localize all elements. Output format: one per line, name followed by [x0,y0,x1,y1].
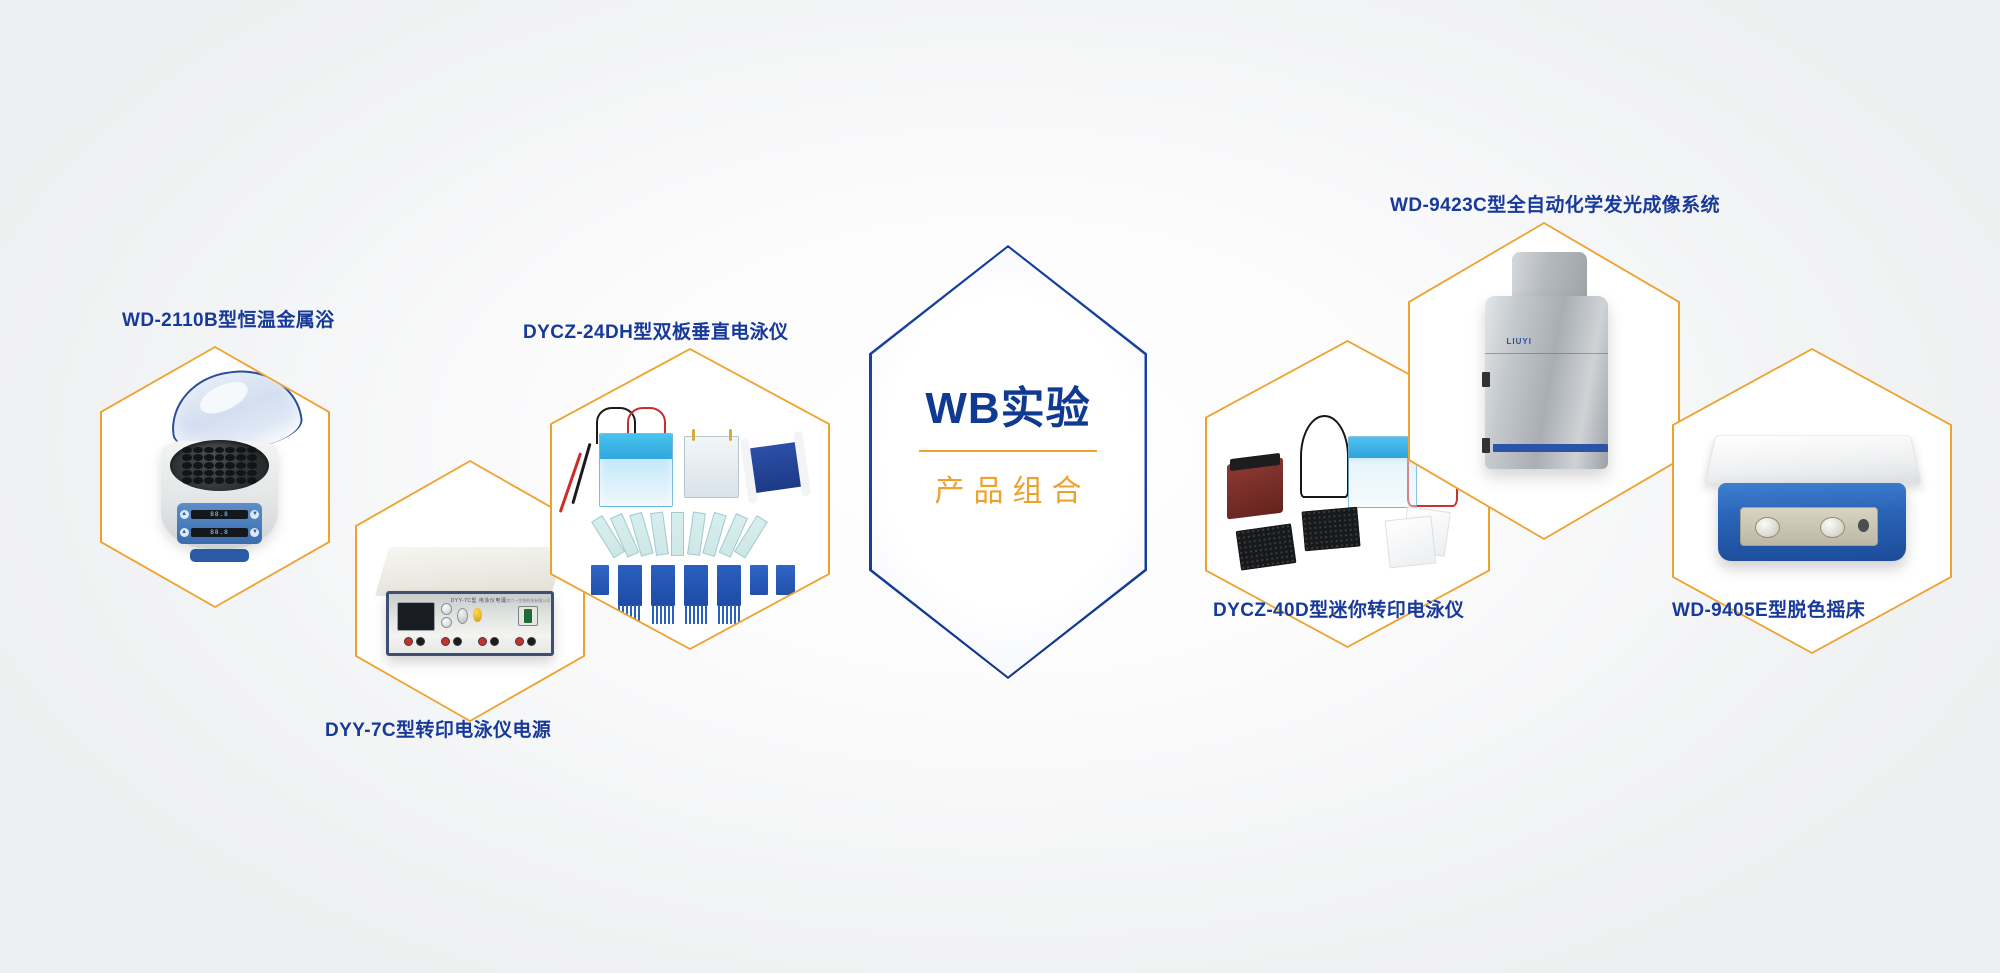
transfer-grid-plate [1301,507,1360,551]
power-supply-display [397,602,434,630]
metal-bath-control-panel[interactable]: ▲ 88.8 ▼ ▲ 88.8 ▼ [177,503,263,544]
imager-illustration: LIUYI [1410,224,1678,538]
speed-knob[interactable] [1755,517,1780,538]
center-copy: WB实验 产品组合 [869,385,1147,510]
comb [717,565,742,607]
product-hex-chemiluminescence-imager[interactable]: LIUYI [1408,222,1680,540]
metal-bath-wells [182,447,258,484]
glass-plate-fan [613,511,768,556]
vertical-electrophoresis-illustration [552,350,828,648]
shaker-control-panel[interactable] [1740,507,1878,546]
time-up-icon[interactable]: ▲ [180,528,189,537]
power-supply-panel-text: DYY-7C型 电泳仪电源 [451,597,507,604]
casting-stand [684,436,738,498]
output-pair [478,637,499,646]
time-down-icon[interactable]: ▼ [250,528,259,537]
hex-inner [552,350,828,648]
cable-black [1300,415,1349,498]
product-label-vertical-electrophoresis: DYCZ-24DH型双板垂直电泳仪 [523,317,788,344]
temp-up-icon[interactable]: ▲ [180,510,189,519]
power-indicator-icon [1858,519,1869,532]
transfer-cassette-red [1227,457,1283,519]
time-row[interactable]: ▲ 88.8 ▼ [180,524,260,540]
output-pair [404,637,425,646]
page-subtitle: 产品组合 [869,466,1147,510]
shaker-tray [1704,435,1922,484]
page-title: WB实验 [869,385,1147,433]
temp-down-icon[interactable]: ▼ [250,510,259,519]
product-label-mini-transfer: DYCZ-40D型迷你转印电泳仪 [1213,595,1464,622]
power-supply-brand-text: 北京六一生物科技有限公司 [502,598,550,604]
output-pair [515,637,536,646]
power-supply-output-ports [396,636,544,647]
transfer-tank-blue [1348,436,1417,508]
power-supply-front-panel: DYY-7C型 电泳仪电源 北京六一生物科技有限公司 [386,591,553,656]
gel-clamp [745,442,806,494]
imager-camera-hood [1512,252,1587,302]
comb-set [591,565,795,607]
imager-brand-logo: LIUYI [1506,337,1531,346]
product-label-decolorizing-shaker: WD-9405E型脱色摇床 [1672,595,1865,622]
product-hex-vertical-electrophoresis[interactable] [550,348,830,650]
hex-inner: ▲ 88.8 ▼ ▲ 88.8 ▼ [102,348,328,606]
transfer-grid-plate [1235,524,1296,571]
spacer-block [591,565,609,596]
imager-door-seam [1485,353,1608,355]
product-label-metal-bath: WD-2110B型恒温金属浴 [122,305,335,332]
timer-knob[interactable] [1820,517,1845,538]
comb [684,565,709,607]
output-pair [441,637,462,646]
temp-row[interactable]: ▲ 88.8 ▼ [180,507,260,523]
power-supply-updown-buttons[interactable] [441,603,452,628]
time-readout: 88.8 [191,528,249,537]
power-switch-icon[interactable] [518,606,538,627]
power-supply-button-gray[interactable] [457,608,468,624]
product-label-chemiluminescence-imager: WD-9423C型全自动化学发光成像系统 [1390,190,1720,217]
temp-readout: 88.8 [191,510,249,519]
buffer-tank [599,433,673,507]
comb [618,565,643,607]
metal-bath-illustration: ▲ 88.8 ▼ ▲ 88.8 ▼ [102,348,328,606]
power-supply-top-shell [375,547,565,596]
spacer-block [750,565,768,596]
power-supply-button-yellow[interactable] [473,608,482,622]
title-divider [919,450,1097,452]
center-hexagon: WB实验 产品组合 [869,245,1147,679]
product-hex-metal-bath[interactable]: ▲ 88.8 ▼ ▲ 88.8 ▼ [100,346,330,608]
imager-port [1482,372,1490,388]
metal-bath-brand-badge [190,549,249,562]
comb [651,565,676,607]
infographic-canvas: WD-2110B型恒温金属浴 ▲ [0,0,2000,973]
hex-inner: LIUYI [1410,224,1678,538]
product-label-power-supply: DYY-7C型转印电泳仪电源 [325,715,551,742]
imager-blue-stripe [1493,444,1608,452]
spacer-block [776,565,794,596]
imager-port [1482,438,1490,454]
metal-bath-block [170,440,269,492]
